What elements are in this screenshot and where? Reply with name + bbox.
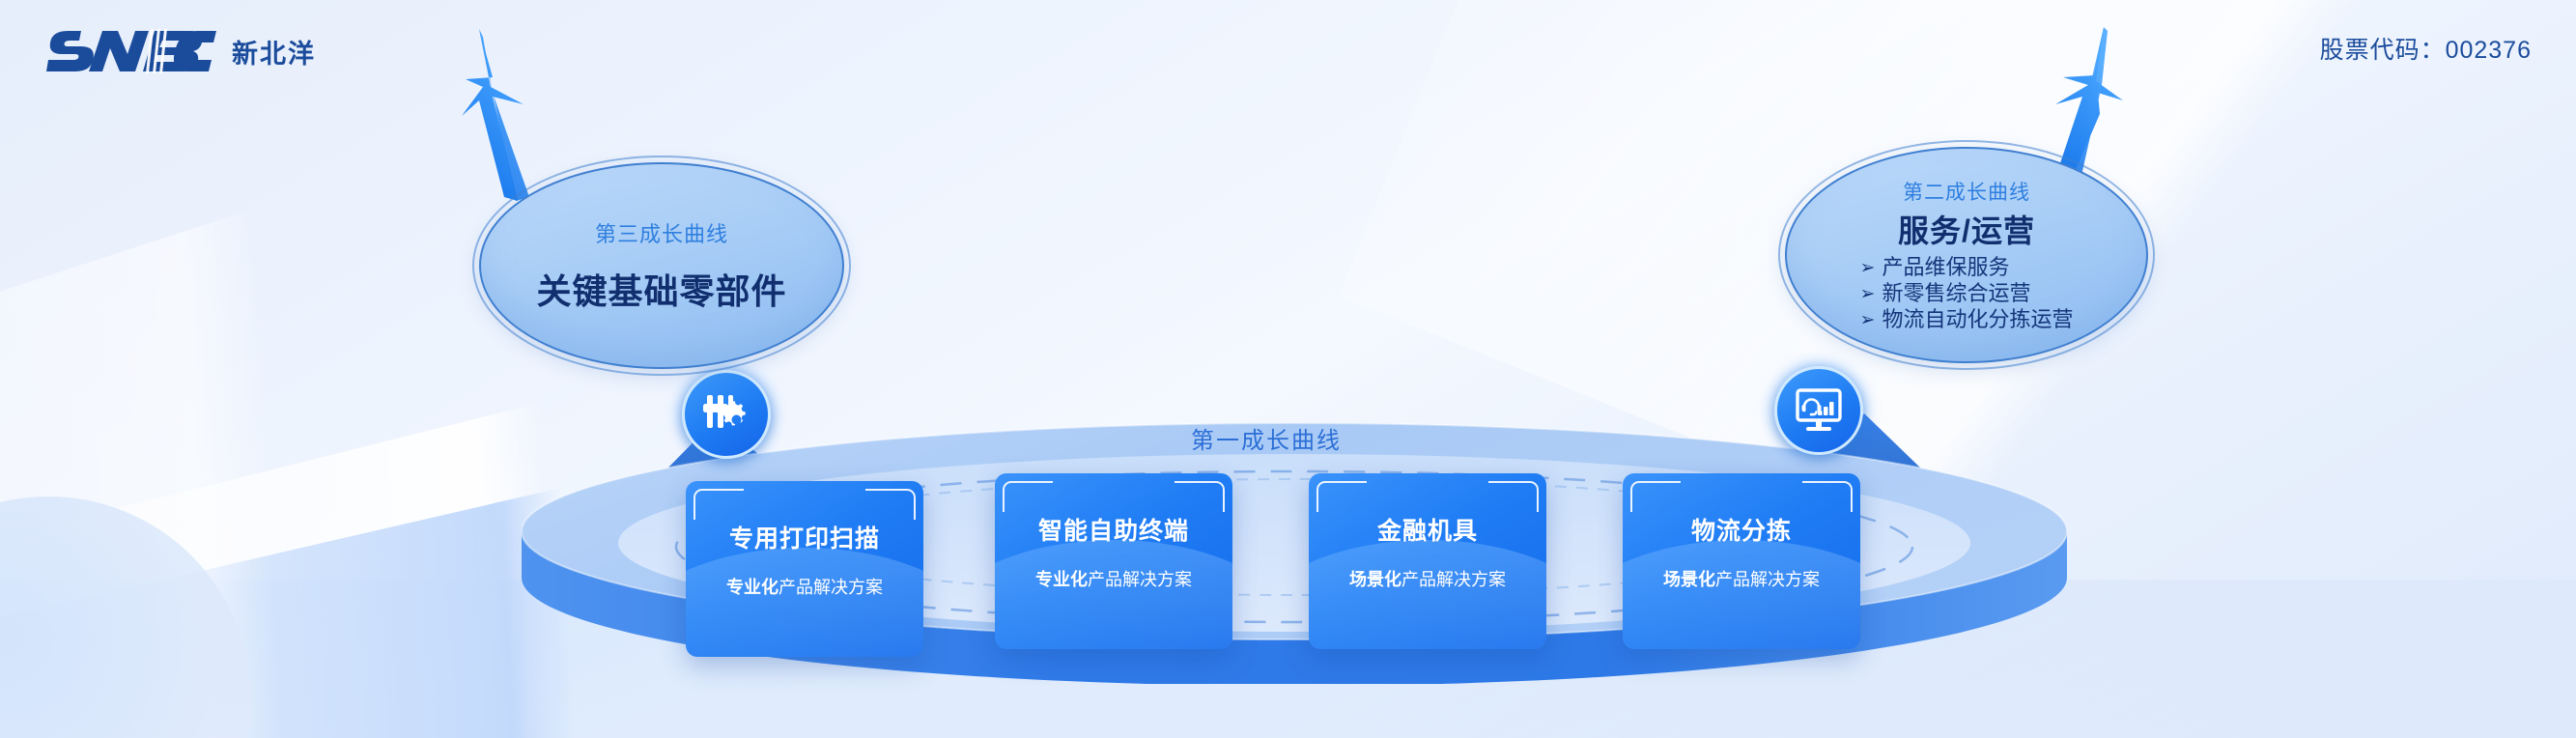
card-subtitle: 场景化产品解决方案	[1309, 566, 1546, 591]
second-growth-curve-bubble[interactable]: 第二成长曲线 服务/运营 ➢产品维保服务 ➢新零售综合运营 ➢物流自动化分拣运营	[1785, 147, 2148, 363]
product-card[interactable]: 智能自助终端 专业化产品解决方案	[995, 473, 1232, 649]
first-curve-label: 第一成长曲线	[1191, 421, 1342, 455]
logo-chinese-name: 新北洋	[232, 33, 316, 71]
sliders-gear-icon	[682, 370, 771, 459]
card-title: 专用打印扫描	[686, 520, 923, 554]
card-title: 物流分拣	[1623, 512, 1860, 547]
monitor-headset-chart-icon	[1774, 366, 1863, 455]
sliders-gear-glyph	[701, 389, 751, 440]
product-card[interactable]: 金融机具 场景化产品解决方案	[1309, 473, 1546, 649]
infographic-canvas: 新北洋 股票代码：002376	[0, 0, 2576, 738]
third-growth-curve-bubble[interactable]: 第三成长曲线 关键基础零部件	[479, 162, 844, 369]
card-title: 金融机具	[1309, 512, 1546, 547]
card-subtitle: 场景化产品解决方案	[1623, 566, 1860, 591]
bubble-halo	[472, 156, 851, 376]
card-title: 智能自助终端	[995, 512, 1232, 547]
bubble-halo	[1778, 140, 2155, 370]
snbc-logo-mark	[46, 25, 218, 77]
product-card[interactable]: 专用打印扫描 专业化产品解决方案	[686, 481, 923, 657]
stock-code: 股票代码：002376	[2320, 31, 2532, 66]
card-subtitle: 专业化产品解决方案	[686, 574, 923, 599]
monitor-headset-chart-glyph	[1793, 385, 1845, 436]
snbc-logo: 新北洋	[46, 25, 316, 77]
background-glow	[0, 497, 251, 738]
card-subtitle: 专业化产品解决方案	[995, 566, 1232, 591]
product-card[interactable]: 物流分拣 场景化产品解决方案	[1623, 473, 1860, 649]
